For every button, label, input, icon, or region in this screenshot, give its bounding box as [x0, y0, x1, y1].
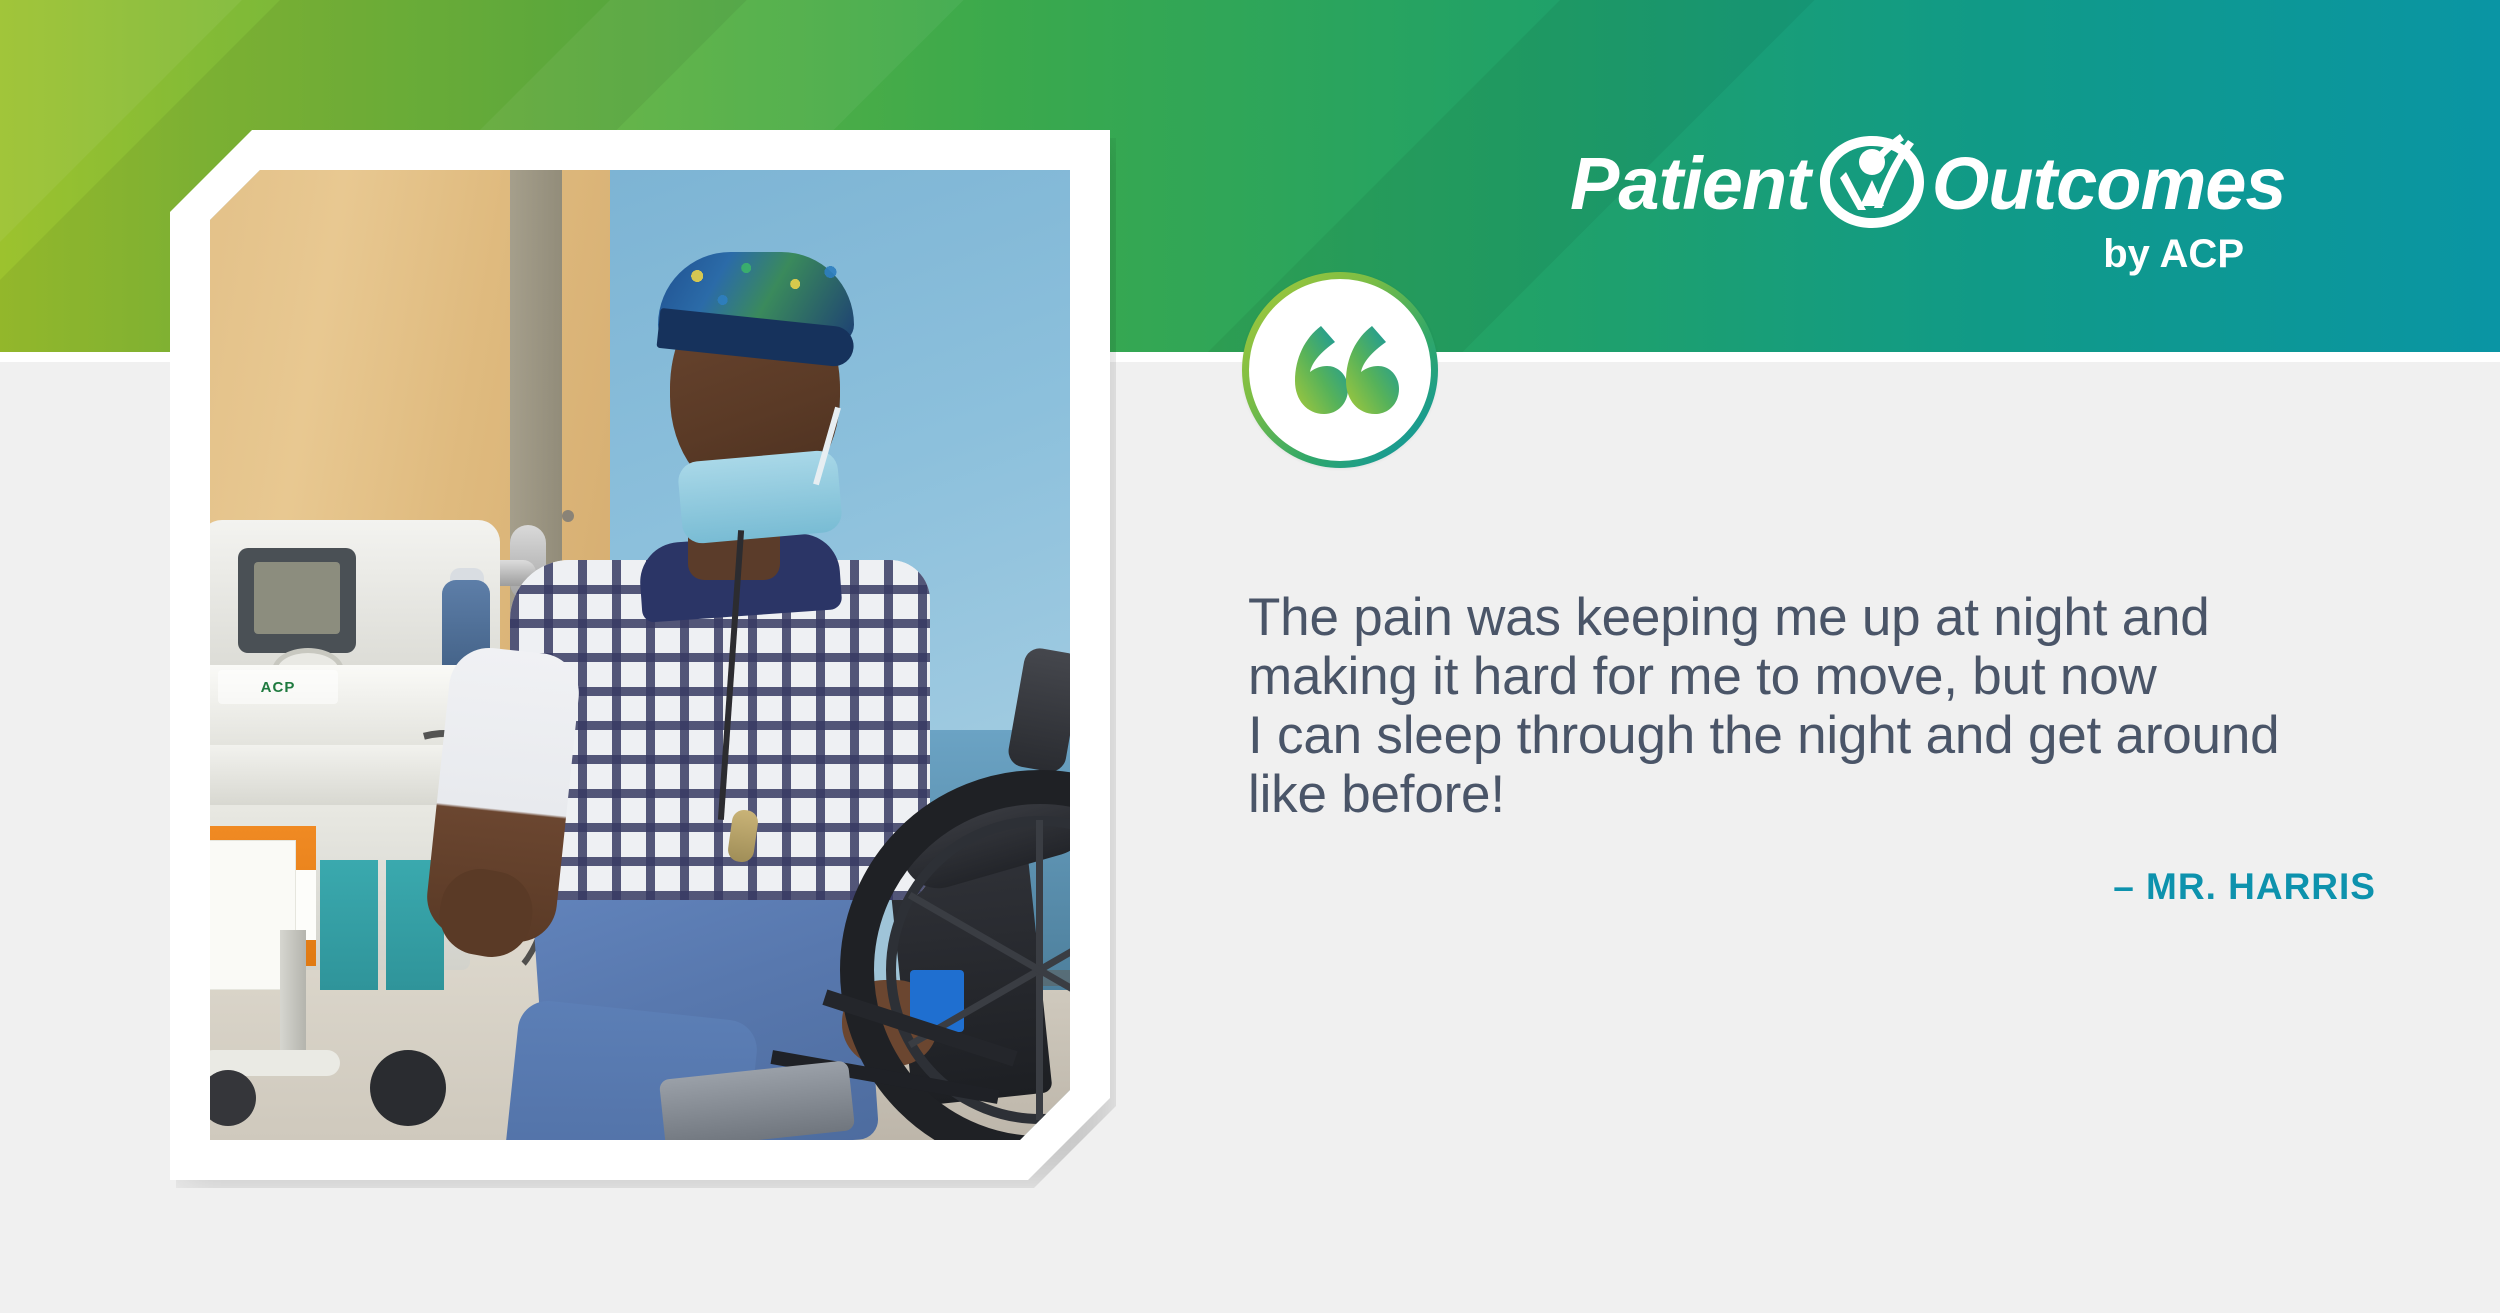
- wheelchair-caster-wheel: [370, 1050, 446, 1126]
- diagonal-accent-1: [0, 0, 132, 352]
- teal-supply-box-1: [320, 860, 378, 990]
- testimonial-line: The pain was keeping me up at night and: [1248, 588, 2428, 647]
- quote-badge: [1242, 272, 1438, 468]
- device-screen: [254, 562, 340, 634]
- testimonial-line: like before!: [1248, 765, 2428, 824]
- door-bolt: [562, 510, 574, 522]
- testimonial-line: making it hard for me to move, but now: [1248, 647, 2428, 706]
- checkmark-person-oval-icon: [1816, 132, 1928, 232]
- logo-word-patient: Patient: [1570, 138, 1810, 230]
- quotation-mark-icon: [1281, 324, 1399, 420]
- testimonial-attribution: – MR. HARRIS: [1248, 866, 2428, 908]
- logo-subtitle: by ACP: [1570, 232, 2250, 277]
- logo-word-outcomes: Outcomes: [1932, 138, 2286, 230]
- acp-device-label: ACP: [218, 670, 338, 704]
- logo-wordmark-row: Patient Outcomes: [1570, 138, 2250, 230]
- brand-logo: Patient Outcomes by ACP: [1570, 138, 2250, 266]
- testimonial-block: The pain was keeping me up at night and …: [1248, 588, 2428, 908]
- patient-photo: ACP: [210, 170, 1070, 1140]
- testimonial-text: The pain was keeping me up at night and …: [1248, 588, 2428, 824]
- cart-post: [280, 930, 306, 1070]
- testimonial-line: I can sleep through the night and get ar…: [1248, 706, 2428, 765]
